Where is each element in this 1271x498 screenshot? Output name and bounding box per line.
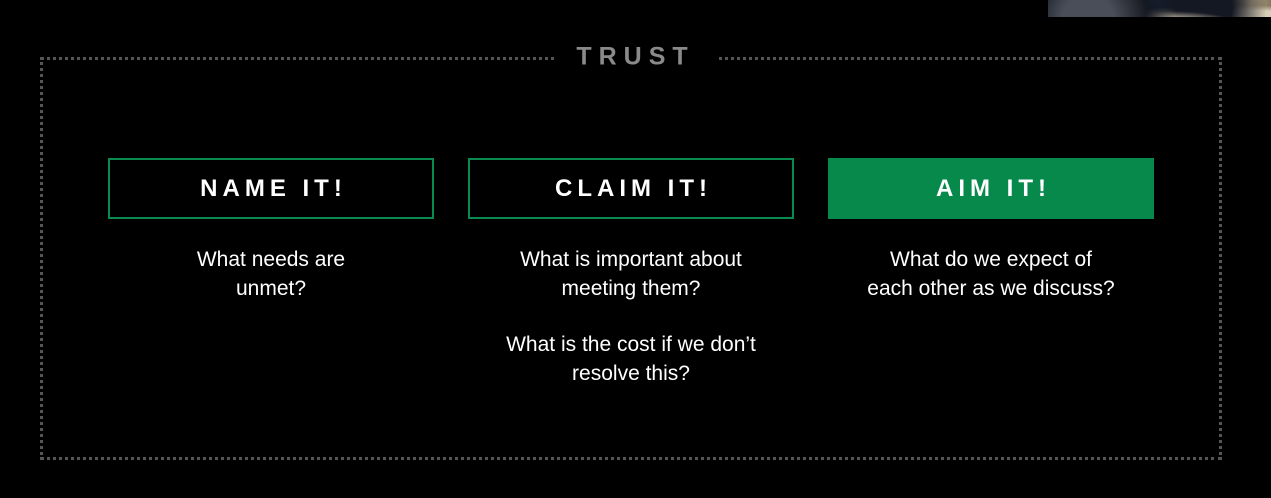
step-column-aim-it: AIM IT! What do we expect of each other … — [828, 158, 1154, 303]
claim-it-caption-1: What is important about meeting them? — [471, 245, 791, 303]
claim-it-caption-2: What is the cost if we don’t resolve thi… — [471, 330, 791, 388]
video-frame-image — [1048, 0, 1271, 17]
step-column-name-it: NAME IT! What needs are unmet? — [108, 158, 434, 303]
step-column-claim-it: CLAIM IT! What is important about meetin… — [468, 158, 794, 388]
steps-container: NAME IT! What needs are unmet? CLAIM IT!… — [40, 57, 1222, 460]
aim-it-caption-1: What do we expect of each other as we di… — [831, 245, 1151, 303]
name-it-caption-1: What needs are unmet? — [111, 245, 431, 303]
name-it-button[interactable]: NAME IT! — [108, 158, 434, 219]
claim-it-button[interactable]: CLAIM IT! — [468, 158, 794, 219]
presenter-video-feed — [1048, 0, 1271, 17]
aim-it-button[interactable]: AIM IT! — [828, 158, 1154, 219]
